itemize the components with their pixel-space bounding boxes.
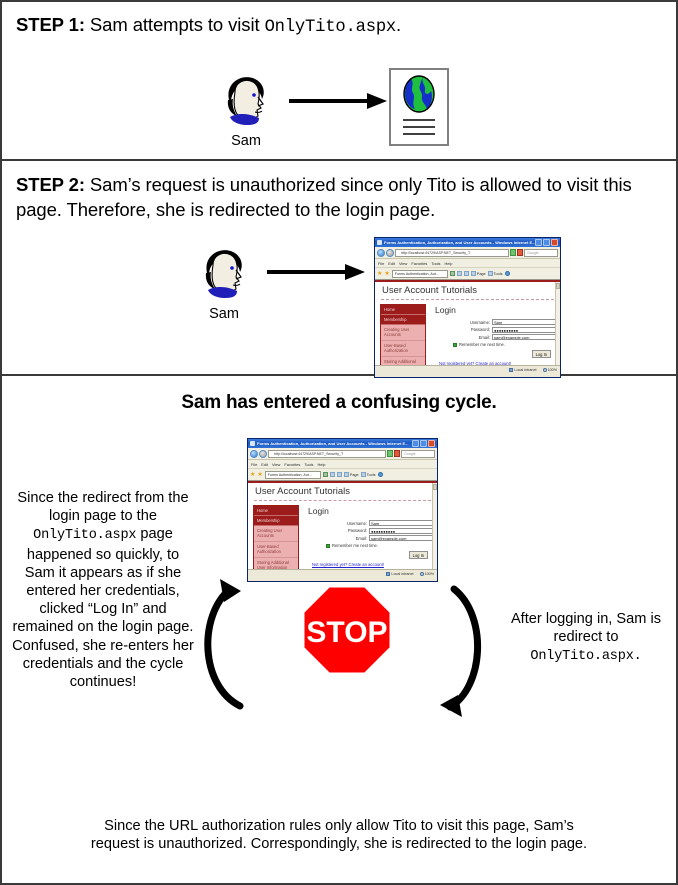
browser-address-bar[interactable]: http://localhost:44729/ASP.NET_Security_… (375, 247, 560, 259)
browser-icon (377, 240, 382, 245)
login-panel: Login Username: Sam Password: ●●●●●●●●●●… (306, 505, 433, 569)
remember-me-row[interactable]: Remember me next time. (453, 342, 556, 347)
browser-title: Forms Authentication, Authorization, and… (384, 240, 535, 245)
cycle-left-text-2: page happened so quickly, to Sam it appe… (12, 526, 194, 690)
minimize-button[interactable] (535, 239, 542, 246)
cycle-left-code: OnlyTito.aspx (33, 528, 136, 543)
step2-heading: STEP 2: Sam’s request is unauthorized si… (2, 161, 676, 222)
remember-me-checkbox[interactable] (326, 544, 330, 548)
zoom-icon (543, 368, 547, 372)
browser-tab[interactable]: Forms Authentication, Aut... (392, 270, 448, 278)
step1-text-before: Sam attempts to visit (85, 14, 265, 35)
page-content: User Account Tutorials Home Membership C… (375, 280, 560, 365)
toolbar-page-menu[interactable]: Page (471, 271, 486, 276)
email-input[interactable]: sam@example.com (369, 535, 433, 541)
cycle-title: Sam has entered a confusing cycle. (2, 376, 676, 414)
remember-me-row[interactable]: Remember me next time. (326, 543, 433, 548)
remember-me-checkbox[interactable] (453, 343, 457, 347)
sidebar-item-membership[interactable]: Membership (381, 315, 425, 325)
site-body: Home Membership Creating User Accounts U… (248, 501, 437, 569)
cycle-panel: Sam has entered a confusing cycle. Forms… (2, 376, 676, 885)
step2-arrow-icon (267, 261, 367, 283)
cycle-right-text-1: After logging in, Sam is redirect to (511, 611, 661, 645)
login-heading: Login (435, 305, 556, 315)
sidebar-item-storing-additional-user-information[interactable]: Storing Additional User Information (381, 357, 425, 365)
favorites-star-icon[interactable]: ★ (377, 271, 382, 277)
stop-sign-label: STOP (306, 616, 387, 649)
add-favorite-icon[interactable]: ★ (257, 472, 262, 478)
window-buttons[interactable] (412, 440, 435, 447)
browser-window-cycle[interactable]: Forms Authentication, Authorization, and… (247, 438, 438, 582)
menu-edit[interactable]: Edit (388, 261, 395, 266)
sidebar-item-creating-user-accounts[interactable]: Creating User Accounts (254, 526, 298, 542)
toolbar-feeds[interactable] (330, 472, 335, 477)
toolbar-help[interactable] (505, 271, 510, 276)
cycle-left-text: Since the redirect from the login page t… (12, 489, 194, 691)
browser-titlebar: Forms Authentication, Authorization, and… (375, 238, 560, 247)
browser-titlebar: Forms Authentication, Authorization, and… (248, 439, 437, 448)
menu-edit[interactable]: Edit (261, 462, 268, 467)
login-button-row: Log In (433, 350, 556, 358)
browser-window-step2[interactable]: Forms Authentication, Authorization, and… (374, 237, 561, 378)
site-title: User Account Tutorials (248, 483, 437, 500)
add-favorite-icon[interactable]: ★ (384, 271, 389, 277)
log-in-button[interactable]: Log In (532, 350, 551, 358)
menu-view[interactable]: View (399, 261, 407, 266)
sidebar-item-user-based-authorization[interactable]: User-Based Authorization (254, 542, 298, 558)
vertical-scrollbar[interactable] (555, 282, 560, 365)
menu-file[interactable]: File (251, 462, 257, 467)
step1-heading: STEP 1: Sam attempts to visit OnlyTito.a… (2, 2, 676, 40)
sidebar-item-storing-additional-user-information[interactable]: Storing Additional User Information (254, 558, 298, 569)
refresh-icon[interactable] (510, 249, 516, 256)
vertical-scrollbar[interactable] (432, 483, 437, 569)
create-account-link[interactable]: Not registered yet? Create an account! (312, 562, 433, 567)
cycle-bottom-caption: Since the URL authorization rules only a… (2, 817, 676, 854)
login-button-row: Log In (306, 551, 433, 559)
password-input[interactable]: ●●●●●●●●●● (492, 327, 556, 333)
browser-statusbar: Local intranet 100% (375, 365, 560, 374)
remember-me-label: Remember me next time. (459, 342, 505, 347)
minimize-button[interactable] (412, 440, 419, 447)
step2-panel: STEP 2: Sam’s request is unauthorized si… (2, 161, 676, 374)
browser-address-bar[interactable]: http://localhost:44729/ASP.NET_Security_… (248, 448, 437, 460)
stop-sign-icon: STOP (301, 584, 393, 681)
toolbar-help[interactable] (378, 472, 383, 477)
back-button[interactable] (377, 249, 385, 257)
browser-icon (250, 441, 255, 446)
scrollbar-thumb[interactable] (433, 484, 437, 490)
back-button[interactable] (250, 450, 258, 458)
site-body: Home Membership Creating User Accounts U… (375, 300, 560, 365)
login-heading: Login (308, 506, 433, 516)
maximize-button[interactable] (543, 239, 550, 246)
sidebar-item-home[interactable]: Home (381, 305, 425, 315)
sidebar-item-membership[interactable]: Membership (254, 516, 298, 526)
toolbar-print[interactable] (464, 271, 469, 276)
menu-tools[interactable]: Tools (431, 261, 440, 266)
step2-label: STEP 2: (16, 174, 85, 195)
favorites-star-icon[interactable]: ★ (250, 472, 255, 478)
step1-illustration: Sam (2, 66, 676, 156)
cycle-right-text: After logging in, Sam is redirect to Onl… (498, 610, 674, 667)
username-row: Username: Sam (306, 520, 433, 526)
email-label: Email: (356, 536, 367, 541)
password-row: Password: ●●●●●●●●●● (306, 528, 433, 534)
username-label: Username: (470, 320, 490, 325)
log-in-button[interactable]: Log In (409, 551, 428, 559)
browser-menubar[interactable]: File Edit View Favorites Tools Help (375, 259, 560, 268)
security-zone: Local intranet (509, 368, 536, 372)
zoom-level[interactable]: 100% (543, 368, 557, 372)
browser-tab[interactable]: Forms Authentication, Aut... (265, 471, 321, 479)
step2-text: Sam’s request is unauthorized since only… (16, 174, 632, 220)
menu-favorites[interactable]: Favorites (411, 261, 427, 266)
sidebar-item-home[interactable]: Home (254, 506, 298, 516)
password-label: Password: (348, 528, 367, 533)
menu-help[interactable]: Help (317, 462, 325, 467)
toolbar-feeds[interactable] (457, 271, 462, 276)
menu-file[interactable]: File (378, 261, 384, 266)
browser-toolbar[interactable]: ★ ★ Forms Authentication, Aut... Page To… (248, 469, 437, 481)
username-row: Username: Sam (433, 319, 556, 325)
menu-help[interactable]: Help (444, 261, 452, 266)
step1-arrow-icon (289, 90, 389, 112)
toolbar-print[interactable] (337, 472, 342, 477)
sidebar-item-user-based-authorization[interactable]: User-Based Authorization (381, 341, 425, 357)
diagram-page: STEP 1: Sam attempts to visit OnlyTito.a… (0, 0, 678, 885)
site-title: User Account Tutorials (375, 282, 560, 299)
stop-icon[interactable] (394, 450, 400, 457)
username-input[interactable]: Sam (492, 319, 556, 325)
site-sidebar: Home Membership Creating User Accounts U… (380, 304, 426, 365)
sam-label-step2: Sam (187, 306, 261, 322)
email-row: Email: sam@example.com (433, 334, 556, 340)
forward-button[interactable] (386, 249, 394, 257)
scrollbar-thumb[interactable] (556, 283, 560, 289)
sam-figure-step2: Sam (187, 243, 261, 322)
refresh-icon[interactable] (387, 450, 393, 457)
email-row: Email: sam@example.com (306, 535, 433, 541)
username-label: Username: (347, 521, 367, 526)
browser-title: Forms Authentication, Authorization, and… (257, 441, 412, 446)
toolbar-page-menu[interactable]: Page (344, 472, 359, 477)
sidebar-item-creating-user-accounts[interactable]: Creating User Accounts (381, 325, 425, 341)
toolbar-home[interactable] (450, 271, 455, 276)
close-button[interactable] (428, 440, 435, 447)
create-account-link[interactable]: Not registered yet? Create an account! (439, 361, 556, 365)
email-input[interactable]: sam@example.com (492, 334, 556, 340)
username-input[interactable]: Sam (369, 520, 433, 526)
password-row: Password: ●●●●●●●●●● (433, 327, 556, 333)
step1-code: OnlyTito.aspx (265, 18, 396, 37)
url-input[interactable]: http://localhost:44729/ASP.NET_Security_… (268, 450, 386, 458)
maximize-button[interactable] (420, 440, 427, 447)
close-button[interactable] (551, 239, 558, 246)
menu-view[interactable]: View (272, 462, 280, 467)
cycle-left-text-1: Since the redirect from the login page t… (17, 490, 188, 524)
sam-figure-step1: Sam (209, 70, 283, 149)
url-input[interactable]: http://localhost:44729/ASP.NET_Security_… (395, 249, 509, 257)
stop-icon[interactable] (517, 249, 523, 256)
zone-icon (509, 368, 513, 372)
cycle-right-code: OnlyTito.aspx. (530, 649, 641, 664)
remember-me-label: Remember me next time. (332, 543, 378, 548)
toolbar-tools-menu[interactable]: Tools (488, 271, 503, 276)
web-page-document-icon (389, 68, 451, 153)
search-input[interactable]: Google (401, 450, 435, 458)
menu-favorites[interactable]: Favorites (284, 462, 300, 467)
toolbar-tools-menu[interactable]: Tools (361, 472, 376, 477)
password-input[interactable]: ●●●●●●●●●● (369, 528, 433, 534)
window-buttons[interactable] (535, 239, 558, 246)
sam-avatar-icon (215, 70, 277, 132)
page-content: User Account Tutorials Home Membership C… (248, 481, 437, 569)
search-input[interactable]: Google (524, 249, 558, 257)
step1-text-after: . (396, 14, 401, 35)
browser-menubar[interactable]: File Edit View Favorites Tools Help (248, 460, 437, 469)
step2-illustration: Sam Forms Authentication, Authorization,… (2, 239, 676, 369)
forward-button[interactable] (259, 450, 267, 458)
password-label: Password: (471, 327, 490, 332)
toolbar-home[interactable] (323, 472, 328, 477)
browser-toolbar[interactable]: ★ ★ Forms Authentication, Aut... Page To… (375, 268, 560, 280)
sam-avatar-icon (193, 243, 255, 305)
site-sidebar: Home Membership Creating User Accounts U… (253, 505, 299, 569)
step1-label: STEP 1: (16, 14, 85, 35)
step1-panel: STEP 1: Sam attempts to visit OnlyTito.a… (2, 2, 676, 159)
menu-tools[interactable]: Tools (304, 462, 313, 467)
sam-label-step1: Sam (209, 133, 283, 149)
email-label: Email: (479, 335, 490, 340)
login-panel: Login Username: Sam Password: ●●●●●●●●●●… (433, 304, 556, 365)
